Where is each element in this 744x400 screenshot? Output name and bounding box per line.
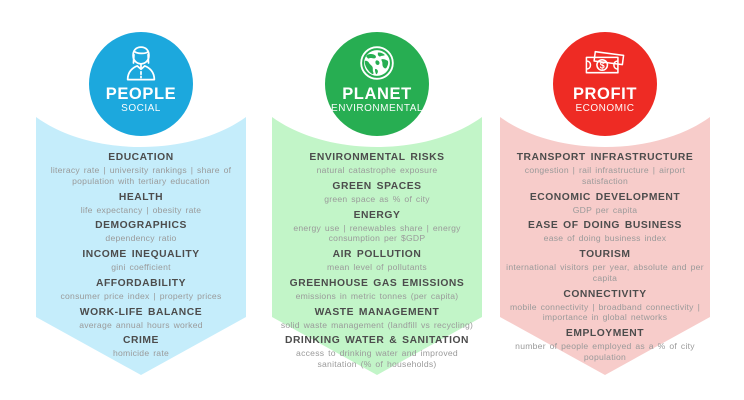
badge-subtitle: SOCIAL	[121, 104, 161, 115]
list-item: DEMOGRAPHICSdependency ratio	[40, 220, 242, 244]
person-icon	[118, 41, 164, 85]
item-desc: mobile connectivity | broadband connecti…	[504, 302, 706, 323]
globe-icon	[354, 41, 400, 85]
item-desc: gini coefficient	[40, 262, 242, 273]
item-desc: number of people employed as a % of city…	[504, 341, 706, 362]
item-title: EDUCATION	[40, 152, 242, 165]
item-title: EASE OF DOING BUSINESS	[504, 220, 706, 233]
item-desc: ease of doing business index	[504, 233, 706, 244]
list-item: EMPLOYMENTnumber of people employed as a…	[504, 328, 706, 363]
list-item: GREEN SPACESgreen space as % of city	[276, 181, 478, 205]
list-item: WORK-LIFE BALANCEaverage annual hours wo…	[40, 307, 242, 331]
item-title: CONNECTIVITY	[504, 289, 706, 302]
badge-subtitle: ENVIRONMENTAL	[331, 104, 423, 115]
item-title: DRINKING WATER & SANITATION	[276, 335, 478, 348]
items-people: EDUCATIONliteracy rate | university rank…	[36, 152, 246, 359]
list-item: WASTE MANAGEMENTsolid waste management (…	[276, 307, 478, 331]
badge-profit[interactable]: $ PROFIT ECONOMIC	[553, 32, 657, 136]
item-title: HEALTH	[40, 192, 242, 205]
item-title: ENVIRONMENTAL RISKS	[276, 152, 478, 165]
badge-title: PROFIT	[573, 86, 637, 103]
pillar-planet: PLANET ENVIRONMENTAL ENVIRONMENTAL RISKS…	[272, 0, 482, 400]
list-item: ENVIRONMENTAL RISKSnatural catastrophe e…	[276, 152, 478, 176]
pillar-profit: $ PROFIT ECONOMIC TRANSPORT INFRASTRUCTU…	[500, 0, 710, 400]
list-item: TOURISMinternational visitors per year, …	[504, 249, 706, 284]
item-desc: literacy rate | university rankings | sh…	[40, 165, 242, 186]
item-desc: solid waste management (landfill vs recy…	[276, 320, 478, 331]
item-title: AIR POLLUTION	[276, 249, 478, 262]
list-item: AIR POLLUTIONmean level of pollutants	[276, 249, 478, 273]
item-title: ENERGY	[276, 210, 478, 223]
item-title: GREEN SPACES	[276, 181, 478, 194]
item-title: GREENHOUSE GAS EMISSIONS	[276, 278, 478, 291]
list-item: ENERGYenergy use | renewables share | en…	[276, 210, 478, 245]
item-title: WORK-LIFE BALANCE	[40, 307, 242, 320]
list-item: EASE OF DOING BUSINESSease of doing busi…	[504, 220, 706, 244]
item-desc: GDP per capita	[504, 205, 706, 216]
item-title: AFFORDABILITY	[40, 278, 242, 291]
item-title: TOURISM	[504, 249, 706, 262]
list-item: AFFORDABILITYconsumer price index | prop…	[40, 278, 242, 302]
item-desc: homicide rate	[40, 348, 242, 359]
svg-text:$: $	[600, 60, 605, 70]
item-desc: congestion | rail infrastructure | airpo…	[504, 165, 706, 186]
item-desc: green space as % of city	[276, 194, 478, 205]
item-desc: life expectancy | obesity rate	[40, 205, 242, 216]
item-desc: consumer price index | property prices	[40, 291, 242, 302]
badge-people[interactable]: PEOPLE SOCIAL	[89, 32, 193, 136]
list-item: DRINKING WATER & SANITATIONaccess to dri…	[276, 335, 478, 370]
infographic-board: PEOPLE SOCIAL EDUCATIONliteracy rate | u…	[0, 0, 744, 400]
badge-title: PLANET	[342, 86, 412, 103]
banknote-dollar-icon: $	[582, 41, 628, 85]
list-item: CRIMEhomicide rate	[40, 335, 242, 359]
item-title: ECONOMIC DEVELOPMENT	[504, 192, 706, 205]
list-item: EDUCATIONliteracy rate | university rank…	[40, 152, 242, 187]
item-desc: energy use | renewables share | energy c…	[276, 223, 478, 244]
list-item: HEALTHlife expectancy | obesity rate	[40, 192, 242, 216]
list-item: CONNECTIVITYmobile connectivity | broadb…	[504, 289, 706, 324]
item-desc: average annual hours worked	[40, 320, 242, 331]
item-desc: access to drinking water and improved sa…	[276, 348, 478, 369]
list-item: INCOME INEQUALITYgini coefficient	[40, 249, 242, 273]
item-desc: mean level of pollutants	[276, 262, 478, 273]
item-desc: emissions in metric tonnes (per capita)	[276, 291, 478, 302]
item-title: WASTE MANAGEMENT	[276, 307, 478, 320]
list-item: TRANSPORT INFRASTRUCTUREcongestion | rai…	[504, 152, 706, 187]
badge-subtitle: ECONOMIC	[576, 104, 635, 115]
item-desc: international visitors per year, absolut…	[504, 262, 706, 283]
item-title: DEMOGRAPHICS	[40, 220, 242, 233]
item-title: TRANSPORT INFRASTRUCTURE	[504, 152, 706, 165]
item-title: EMPLOYMENT	[504, 328, 706, 341]
item-desc: dependency ratio	[40, 233, 242, 244]
item-title: INCOME INEQUALITY	[40, 249, 242, 262]
items-profit: TRANSPORT INFRASTRUCTUREcongestion | rai…	[500, 152, 710, 363]
item-desc: natural catastrophe exposure	[276, 165, 478, 176]
list-item: GREENHOUSE GAS EMISSIONSemissions in met…	[276, 278, 478, 302]
pillar-people: PEOPLE SOCIAL EDUCATIONliteracy rate | u…	[36, 0, 246, 400]
list-item: ECONOMIC DEVELOPMENTGDP per capita	[504, 192, 706, 216]
items-planet: ENVIRONMENTAL RISKSnatural catastrophe e…	[272, 152, 482, 370]
item-title: CRIME	[40, 335, 242, 348]
badge-planet[interactable]: PLANET ENVIRONMENTAL	[325, 32, 429, 136]
badge-title: PEOPLE	[106, 86, 177, 103]
